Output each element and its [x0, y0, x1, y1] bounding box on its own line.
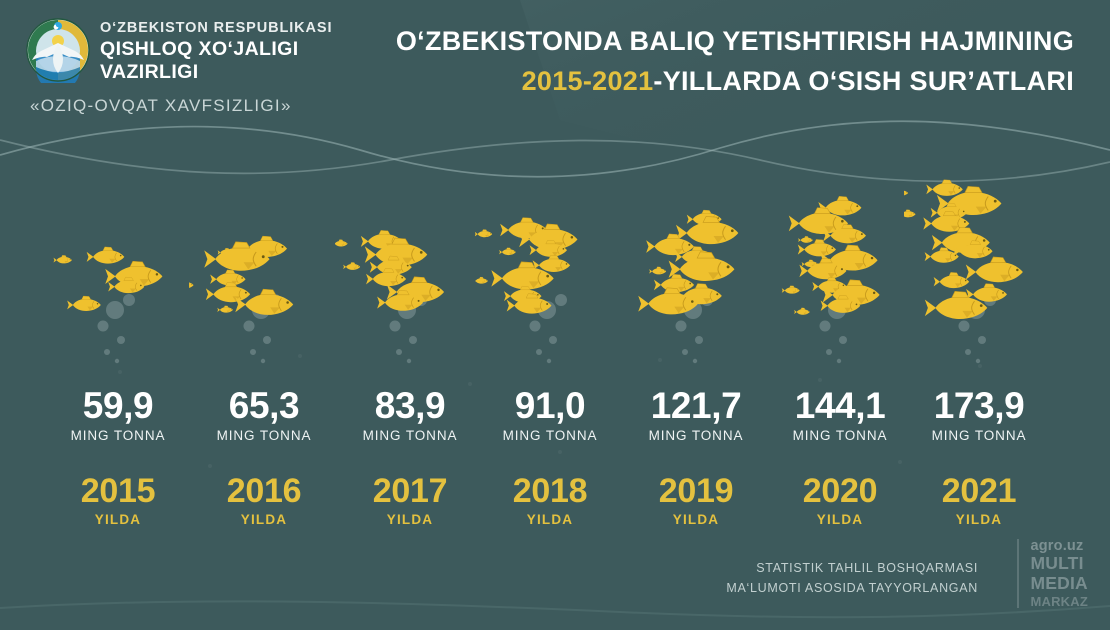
unit-label-2015: MING TONNA: [43, 428, 193, 443]
year-column-2018: [475, 165, 625, 365]
infographic-canvas: O‘ZBEKISTON RESPUBLIKASI QISHLOQ XO‘JALI…: [0, 0, 1110, 630]
year-label-2017: 2017: [335, 472, 485, 511]
year-label-2020: 2020: [765, 472, 915, 511]
year-suffix-2017: YILDA: [335, 512, 485, 527]
logo-line-3: MEDIA: [1030, 575, 1088, 593]
value-label-2017: 83,9: [335, 385, 485, 427]
year-label-2019: 2019: [621, 472, 771, 511]
value-label-2016: 65,3: [189, 385, 339, 427]
unit-label-2020: MING TONNA: [765, 428, 915, 443]
year-suffix-2020: YILDA: [765, 512, 915, 527]
fish-school-icon: [43, 165, 193, 365]
logo-line-4: MARKAZ: [1030, 595, 1088, 608]
logo-line-1: agro.uz: [1030, 539, 1088, 554]
logo-line-2: MULTI: [1030, 555, 1088, 573]
footer-line-2: MA‘LUMOTI ASOSIDA TAYYORLANGAN: [726, 579, 978, 598]
year-column-2015: [43, 165, 193, 365]
value-label-2021: 173,9: [904, 385, 1054, 427]
footer-source: STATISTIK TAHLIL BOSHQARMASI MA‘LUMOTI A…: [726, 559, 978, 598]
value-label-2018: 91,0: [475, 385, 625, 427]
year-columns: 59,9MING TONNA2015YILDA65,3MING TONNA201…: [0, 0, 1110, 630]
year-label-2021: 2021: [904, 472, 1054, 511]
year-label-2018: 2018: [475, 472, 625, 511]
year-label-2016: 2016: [189, 472, 339, 511]
footer-line-1: STATISTIK TAHLIL BOSHQARMASI: [726, 559, 978, 578]
year-label-2015: 2015: [43, 472, 193, 511]
value-label-2015: 59,9: [43, 385, 193, 427]
value-label-2020: 144,1: [765, 385, 915, 427]
unit-label-2016: MING TONNA: [189, 428, 339, 443]
agro-uz-multimedia-logo: agro.uz MULTI MEDIA MARKAZ: [1017, 539, 1088, 609]
year-column-2016: [189, 165, 339, 365]
fish-school-icon: [475, 165, 625, 365]
unit-label-2018: MING TONNA: [475, 428, 625, 443]
unit-label-2017: MING TONNA: [335, 428, 485, 443]
fish-school-icon: [335, 165, 485, 365]
value-label-2019: 121,7: [621, 385, 771, 427]
year-suffix-2019: YILDA: [621, 512, 771, 527]
fish-school-icon: [904, 165, 1054, 365]
year-column-2017: [335, 165, 485, 365]
unit-label-2019: MING TONNA: [621, 428, 771, 443]
unit-label-2021: MING TONNA: [904, 428, 1054, 443]
year-suffix-2016: YILDA: [189, 512, 339, 527]
year-suffix-2018: YILDA: [475, 512, 625, 527]
year-suffix-2021: YILDA: [904, 512, 1054, 527]
year-suffix-2015: YILDA: [43, 512, 193, 527]
year-column-2021: [904, 165, 1054, 365]
year-column-2019: [621, 165, 771, 365]
fish-school-icon: [765, 165, 915, 365]
fish-school-icon: [621, 165, 771, 365]
fish-school-icon: [189, 165, 339, 365]
year-column-2020: [765, 165, 915, 365]
